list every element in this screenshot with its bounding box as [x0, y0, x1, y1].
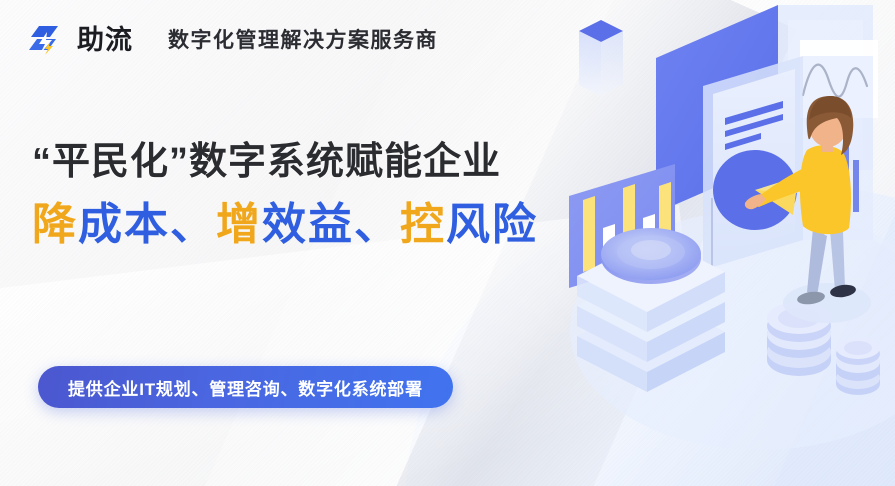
subheadline-segment-5: 、	[354, 200, 400, 249]
subheadline-segment-6: 控	[400, 200, 446, 249]
brand-name: 助流	[77, 27, 133, 54]
zhuliu-lightning-logo-icon[interactable]	[24, 20, 64, 60]
cta-badge[interactable]: 提供企业IT规划、管理咨询、数字化系统部署	[38, 366, 453, 408]
hero-copy: “平民化”数字系统赋能企业 降成本、增效益、控风险	[32, 140, 538, 251]
brand-tagline: 数字化管理解决方案服务商	[168, 30, 438, 51]
hero-subheadline: 降成本、增效益、控风险	[32, 199, 538, 251]
subheadline-segment-4: 效益	[262, 200, 354, 249]
subheadline-segment-1: 成本	[78, 200, 170, 249]
subheadline-segment-7: 风险	[446, 200, 538, 249]
subheadline-segment-0: 降	[32, 200, 78, 249]
sweater	[800, 145, 851, 234]
document-panel-with-pie-chart	[703, 56, 803, 270]
brand-bar: 助流 数字化管理解决方案服务商	[24, 20, 438, 60]
small-3d-column	[579, 20, 623, 96]
hero-illustration	[555, 0, 895, 486]
cta-badge-label: 提供企业IT规划、管理咨询、数字化系统部署	[68, 375, 423, 400]
subheadline-segment-2: 、	[170, 200, 216, 249]
promo-banner: 助流 数字化管理解决方案服务商 “平民化”数字系统赋能企业 降成本、增效益、控风…	[0, 0, 895, 486]
hero-headline: “平民化”数字系统赋能企业	[32, 140, 538, 185]
subheadline-segment-3: 增	[216, 200, 262, 249]
